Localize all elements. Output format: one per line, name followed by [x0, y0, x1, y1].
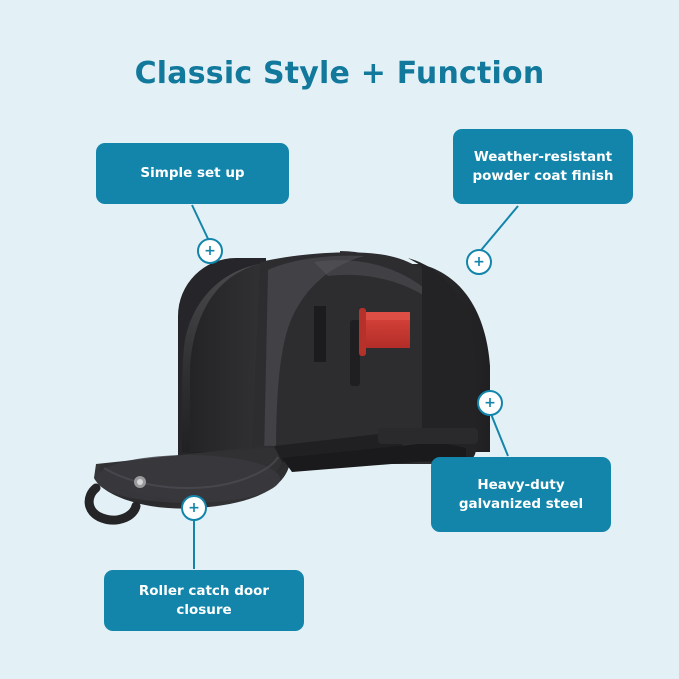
page-title: Classic Style + Function	[0, 56, 679, 91]
callout-label: Weather-resistant powder coat finish	[472, 148, 613, 184]
callout-simple-setup: Simple set up	[96, 143, 289, 204]
mailbox-side-bracket	[314, 306, 326, 362]
callout-weather-resistant: Weather-resistant powder coat finish	[453, 129, 633, 204]
plus-marker-galvanized-steel[interactable]: +	[477, 390, 503, 416]
plus-icon: +	[484, 396, 496, 410]
plus-icon: +	[204, 244, 216, 258]
callout-label: Heavy-duty galvanized steel	[459, 476, 583, 512]
callout-label: Simple set up	[140, 164, 244, 182]
callout-roller-catch: Roller catch door closure	[104, 570, 304, 631]
callout-galvanized-steel: Heavy-duty galvanized steel	[431, 457, 611, 532]
mailbox-base-plate	[378, 428, 478, 444]
product-feature-graphic: Classic Style + Function	[0, 0, 679, 679]
plus-marker-roller-catch[interactable]: +	[181, 495, 207, 521]
plus-marker-simple-setup[interactable]: +	[197, 238, 223, 264]
callout-label: Roller catch door closure	[116, 582, 292, 618]
plus-icon: +	[473, 255, 485, 269]
plus-marker-weather-resistant[interactable]: +	[466, 249, 492, 275]
plus-icon: +	[188, 501, 200, 515]
